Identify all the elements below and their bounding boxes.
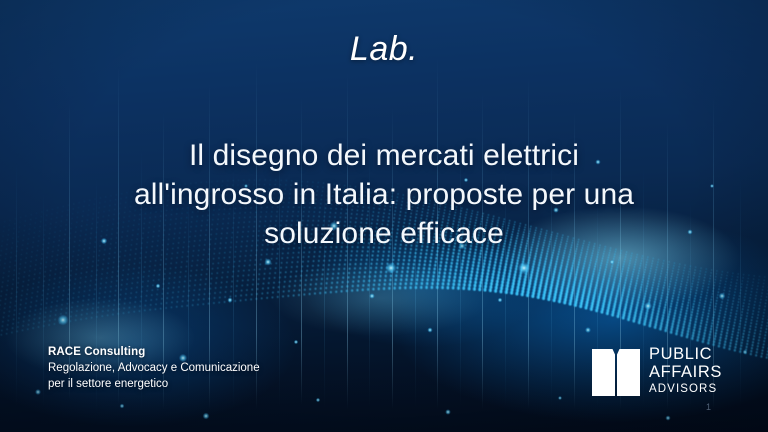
footer-tagline-1: Regolazione, Advocacy e Comunicazione: [48, 360, 260, 376]
footer-tagline-2: per il settore energetico: [48, 376, 260, 392]
title-line-1: Il disegno dei mercati elettrici: [60, 136, 708, 175]
logo-line-advisors: ADVISORS: [649, 382, 722, 397]
slide-content: Lab. Il disegno dei mercati elettrici al…: [0, 0, 768, 432]
footer-attribution: RACE Consulting Regolazione, Advocacy e …: [48, 345, 260, 392]
title-line-2: all'ingrosso in Italia: proposte per una: [60, 175, 708, 214]
footer-organization: RACE Consulting: [48, 345, 260, 360]
title-line-3: soluzione efficace: [60, 214, 708, 253]
logo-wordmark: PUBLIC AFFAIRS ADVISORS: [649, 344, 722, 397]
presentation-slide: Lab. Il disegno dei mercati elettrici al…: [0, 0, 768, 432]
open-book-logo-mark-icon: [592, 344, 640, 396]
logo-line-public: PUBLIC: [649, 345, 722, 363]
lab-label: Lab.: [0, 30, 768, 69]
logo-line-affairs: AFFAIRS: [649, 363, 722, 381]
slide-title: Il disegno dei mercati elettrici all'ing…: [60, 136, 708, 253]
public-affairs-advisors-logo: PUBLIC AFFAIRS ADVISORS: [592, 344, 722, 397]
page-number: 1: [706, 402, 711, 412]
